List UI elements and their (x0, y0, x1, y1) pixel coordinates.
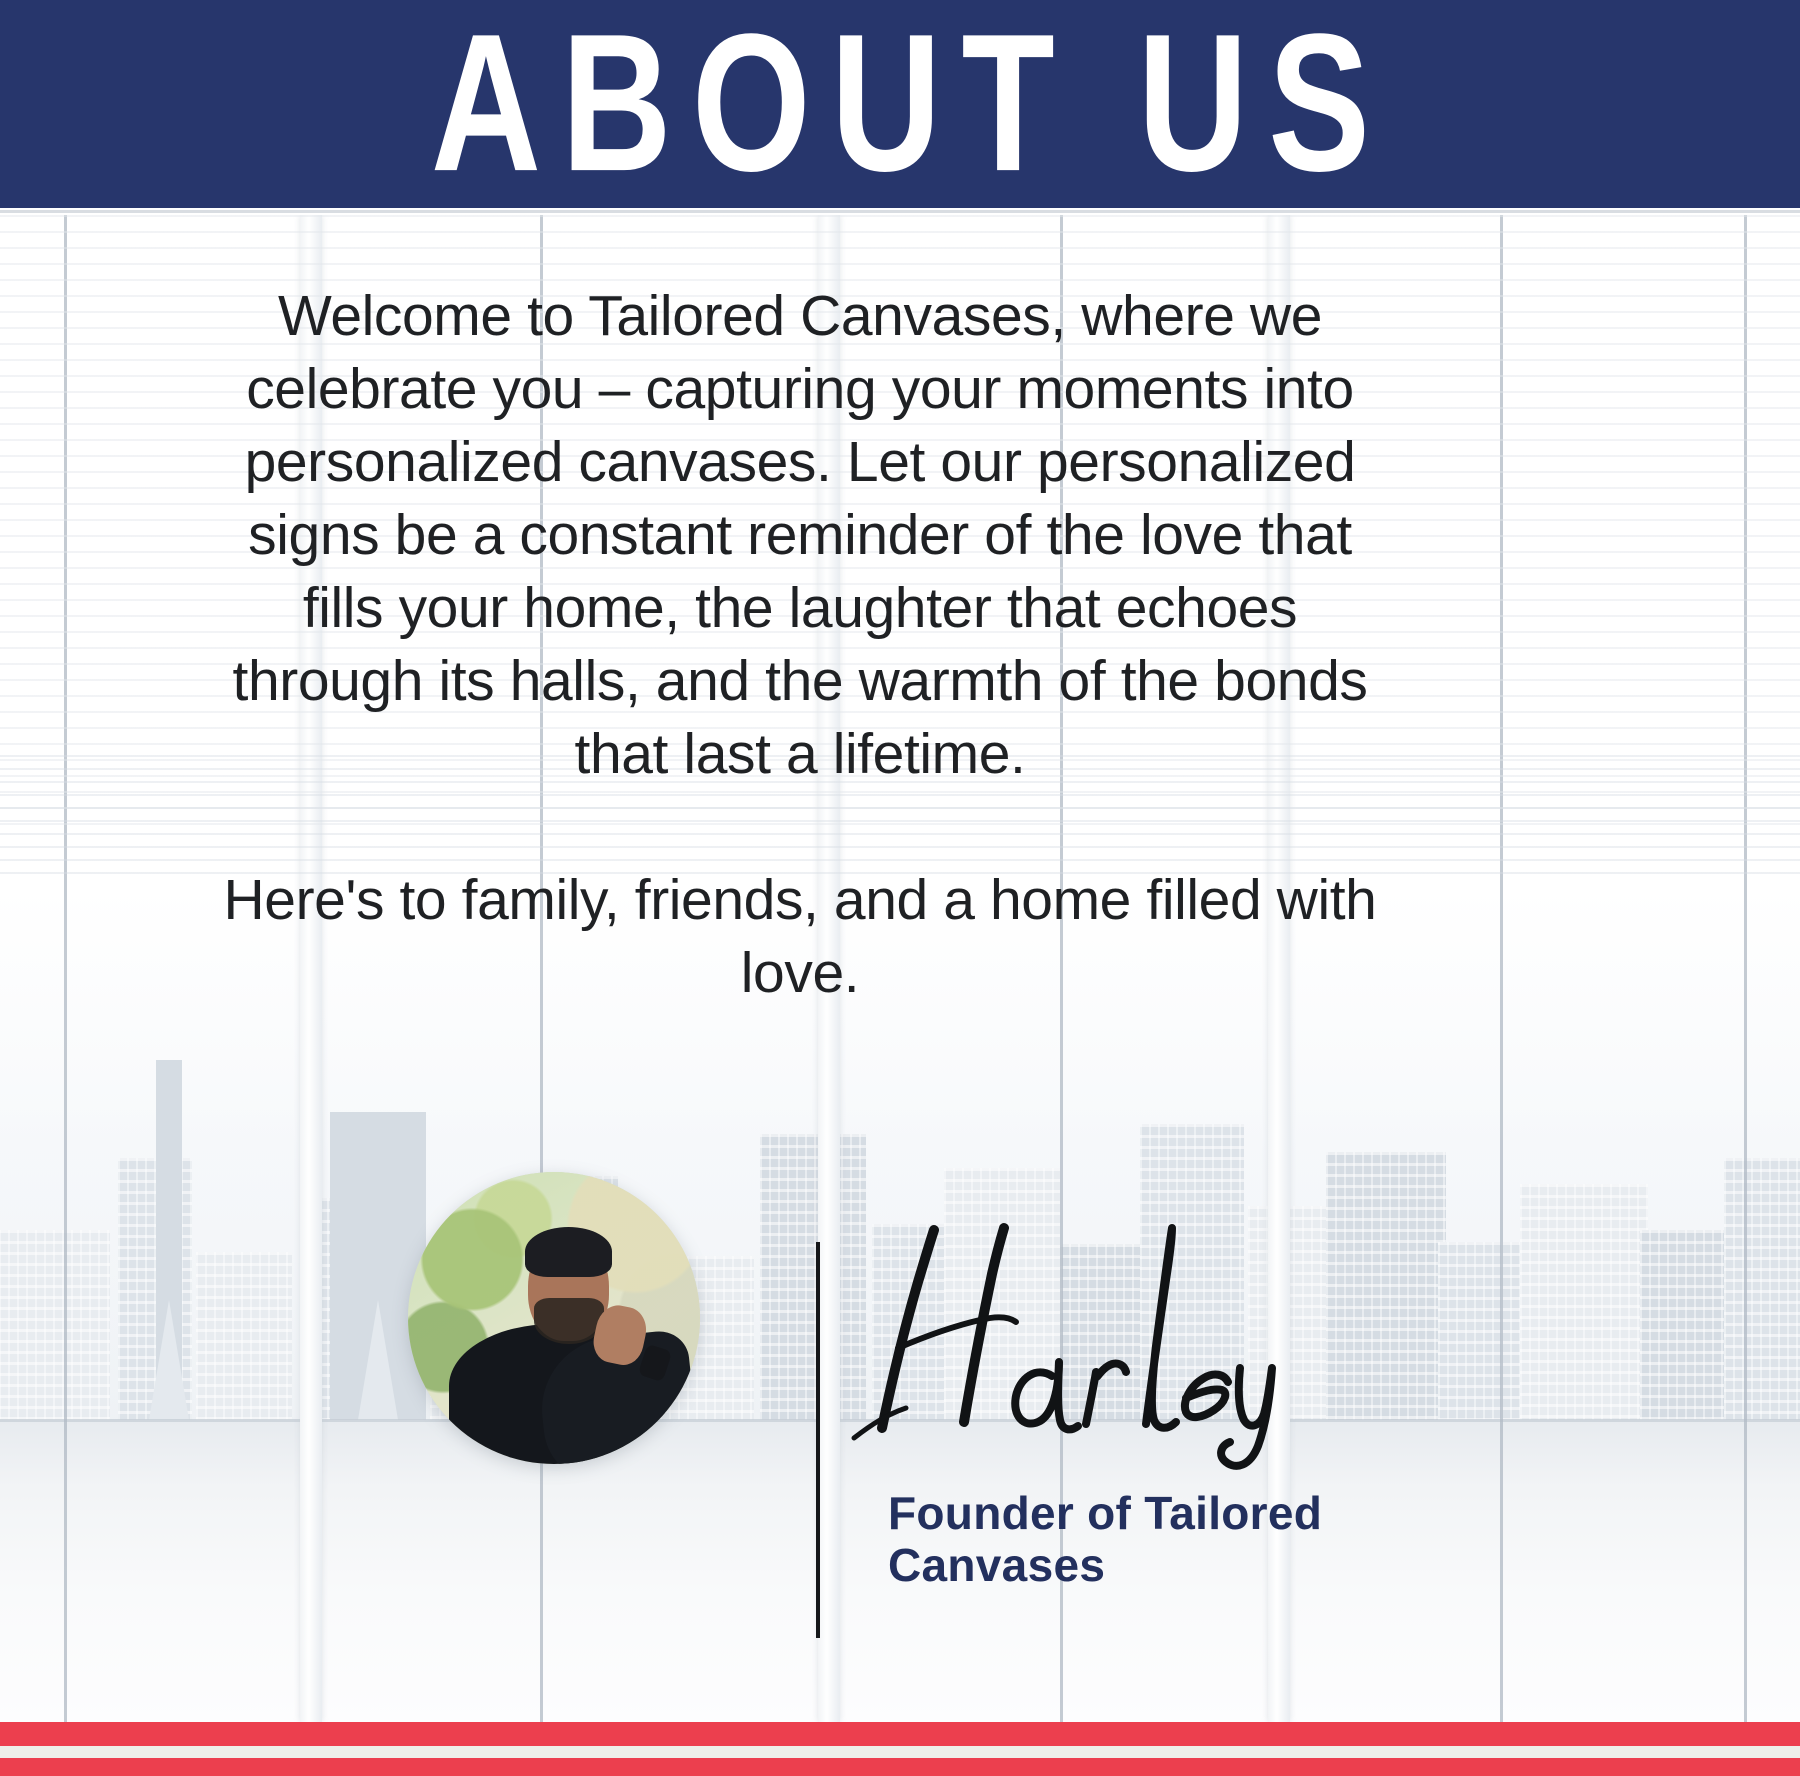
page-title: ABOUT US (410, 6, 1390, 202)
photo-hair (525, 1227, 613, 1277)
founder-role-text: Founder of Tailored Canvases (888, 1488, 1448, 1591)
skyline-building (1438, 1242, 1530, 1420)
handwritten-signature-harley (846, 1170, 1316, 1470)
founder-photo (408, 1172, 700, 1464)
skyline-tower (156, 1060, 182, 1420)
skyline-building (1520, 1184, 1648, 1420)
page-header-banner: ABOUT US (0, 0, 1800, 208)
founder-role-line-2: Canvases (888, 1540, 1448, 1592)
footer-stripe-top (0, 1722, 1800, 1746)
avatar (408, 1172, 700, 1464)
about-us-body-text: Welcome to Tailored Canvases, where we c… (210, 280, 1390, 1010)
footer-stripe-bottom (0, 1758, 1800, 1776)
skyline-building (0, 1230, 110, 1420)
paragraph-intro: Welcome to Tailored Canvases, where we c… (210, 280, 1390, 791)
skyline-building (1326, 1152, 1446, 1420)
paragraph-closing: Here's to family, friends, and a home fi… (210, 864, 1390, 1010)
signature-divider-line (816, 1242, 820, 1638)
header-underline-rule (0, 208, 1800, 215)
signature-icon (846, 1170, 1316, 1470)
skyline-building (1724, 1158, 1800, 1420)
footer-stripe-gap (0, 1746, 1800, 1758)
about-us-poster: ABOUT US Welcome to Tailored Canvases, w… (0, 0, 1800, 1776)
skyline-building (196, 1252, 292, 1420)
skyline-building (1640, 1230, 1736, 1420)
founder-role-line-1: Founder of Tailored (888, 1488, 1448, 1540)
